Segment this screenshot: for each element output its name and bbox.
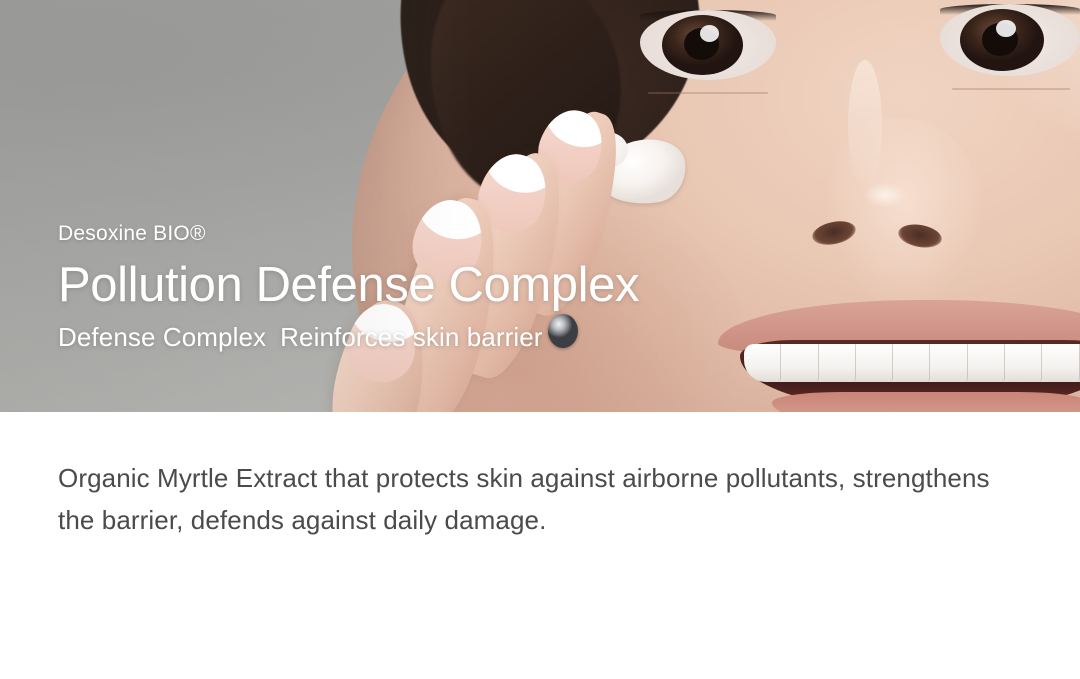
mouth	[718, 300, 1080, 412]
eye-right	[940, 4, 1080, 76]
hero-subtitle: Defense ComplexReinforces skin barrier	[58, 322, 758, 353]
lower-lip	[772, 392, 1080, 412]
under-eye-crease-left	[648, 92, 768, 94]
nose-tip-highlight	[856, 178, 914, 212]
under-eye-crease-right	[952, 88, 1070, 90]
eye-left	[640, 10, 776, 80]
hero-text-block: Desoxine BIO® Pollution Defense Complex …	[58, 221, 758, 353]
hero-section: Desoxine BIO® Pollution Defense Complex …	[0, 0, 1080, 412]
eye-glint-right	[996, 20, 1016, 37]
nose-bridge-highlight	[848, 60, 882, 190]
eye-glint-left	[700, 25, 719, 42]
product-banner: Desoxine BIO® Pollution Defense Complex …	[0, 0, 1080, 679]
brand-name: Desoxine BIO®	[58, 221, 758, 246]
product-description: Organic Myrtle Extract that protects ski…	[58, 457, 1018, 541]
teeth	[744, 344, 1080, 382]
page-title: Pollution Defense Complex	[58, 259, 758, 312]
hero-subtitle-part1: Defense Complex	[58, 322, 266, 352]
hero-subtitle-part2: Reinforces skin barrier	[280, 322, 542, 352]
content-section: Organic Myrtle Extract that protects ski…	[0, 412, 1080, 679]
